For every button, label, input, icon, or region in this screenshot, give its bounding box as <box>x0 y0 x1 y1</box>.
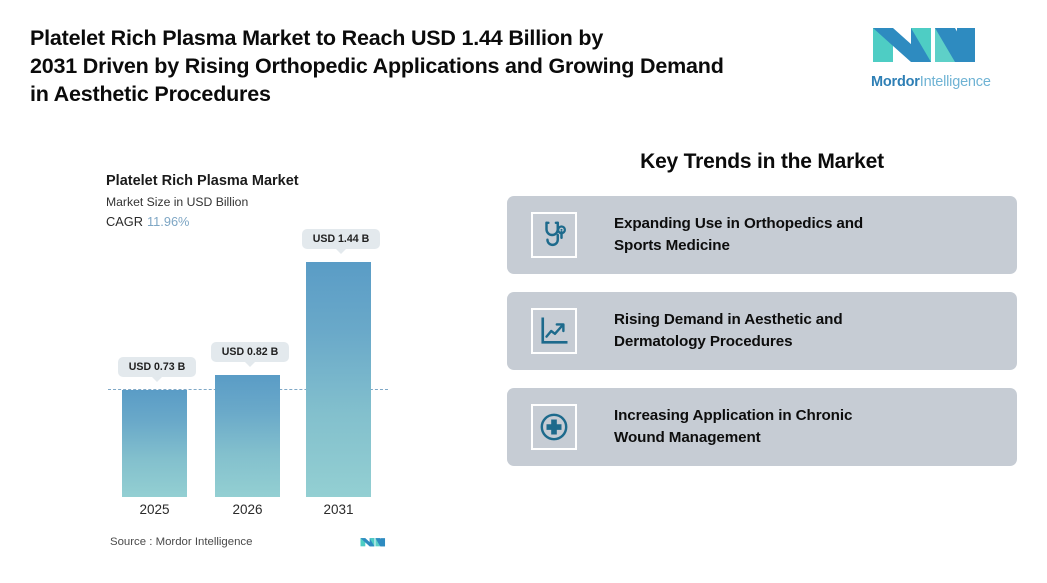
chart-source-text: Source : Mordor Intelligence <box>110 536 252 548</box>
trend-icon-box <box>531 308 577 354</box>
trend-icon-box <box>531 404 577 450</box>
key-trends-panel: Key Trends in the Market Expanding Use i… <box>507 150 1017 484</box>
bar-value-label: USD 0.73 B <box>118 357 196 377</box>
trend-card-text: Rising Demand in Aesthetic and Dermatolo… <box>614 309 843 353</box>
mordor-m-mark-icon <box>360 535 386 549</box>
bar-value-label: USD 0.82 B <box>211 342 289 362</box>
brand-word-intelligence: Intelligence <box>920 74 991 90</box>
page-title: Platelet Rich Plasma Market to Reach USD… <box>30 24 850 108</box>
bar-chart-plot: USD 0.73 B 2025 USD 0.82 B 2026 USD 1.44… <box>0 150 470 570</box>
bar-category-label: 2031 <box>306 502 371 517</box>
brand-word-mordor: Mordor <box>871 74 920 90</box>
stethoscope-icon <box>539 220 569 250</box>
trend-card[interactable]: Expanding Use in Orthopedics and Sports … <box>507 196 1017 274</box>
trend-card-text: Expanding Use in Orthopedics and Sports … <box>614 213 863 257</box>
bar-category-label: 2025 <box>122 502 187 517</box>
chart-rising-arrow-icon <box>539 316 569 346</box>
trend-icon-box <box>531 212 577 258</box>
medical-cross-circle-icon <box>539 412 569 442</box>
bar-2026[interactable] <box>215 375 280 497</box>
trend-card[interactable]: Increasing Application in Chronic Wound … <box>507 388 1017 466</box>
bar-category-label: 2026 <box>215 502 280 517</box>
bar-2031[interactable] <box>306 262 371 497</box>
chart-source-row: Source : Mordor Intelligence <box>110 535 386 549</box>
brand-wordmark: MordorIntelligence <box>871 74 991 90</box>
key-trends-heading: Key Trends in the Market <box>507 150 1017 174</box>
trend-card[interactable]: Rising Demand in Aesthetic and Dermatolo… <box>507 292 1017 370</box>
trend-card-text: Increasing Application in Chronic Wound … <box>614 405 852 449</box>
mordor-m-mark-icon <box>871 20 979 68</box>
chart-panel: Platelet Rich Plasma Market Market Size … <box>0 150 470 570</box>
brand-logo: MordorIntelligence <box>871 20 991 100</box>
bar-value-label: USD 1.44 B <box>302 229 380 249</box>
bar-2025[interactable] <box>122 390 187 497</box>
